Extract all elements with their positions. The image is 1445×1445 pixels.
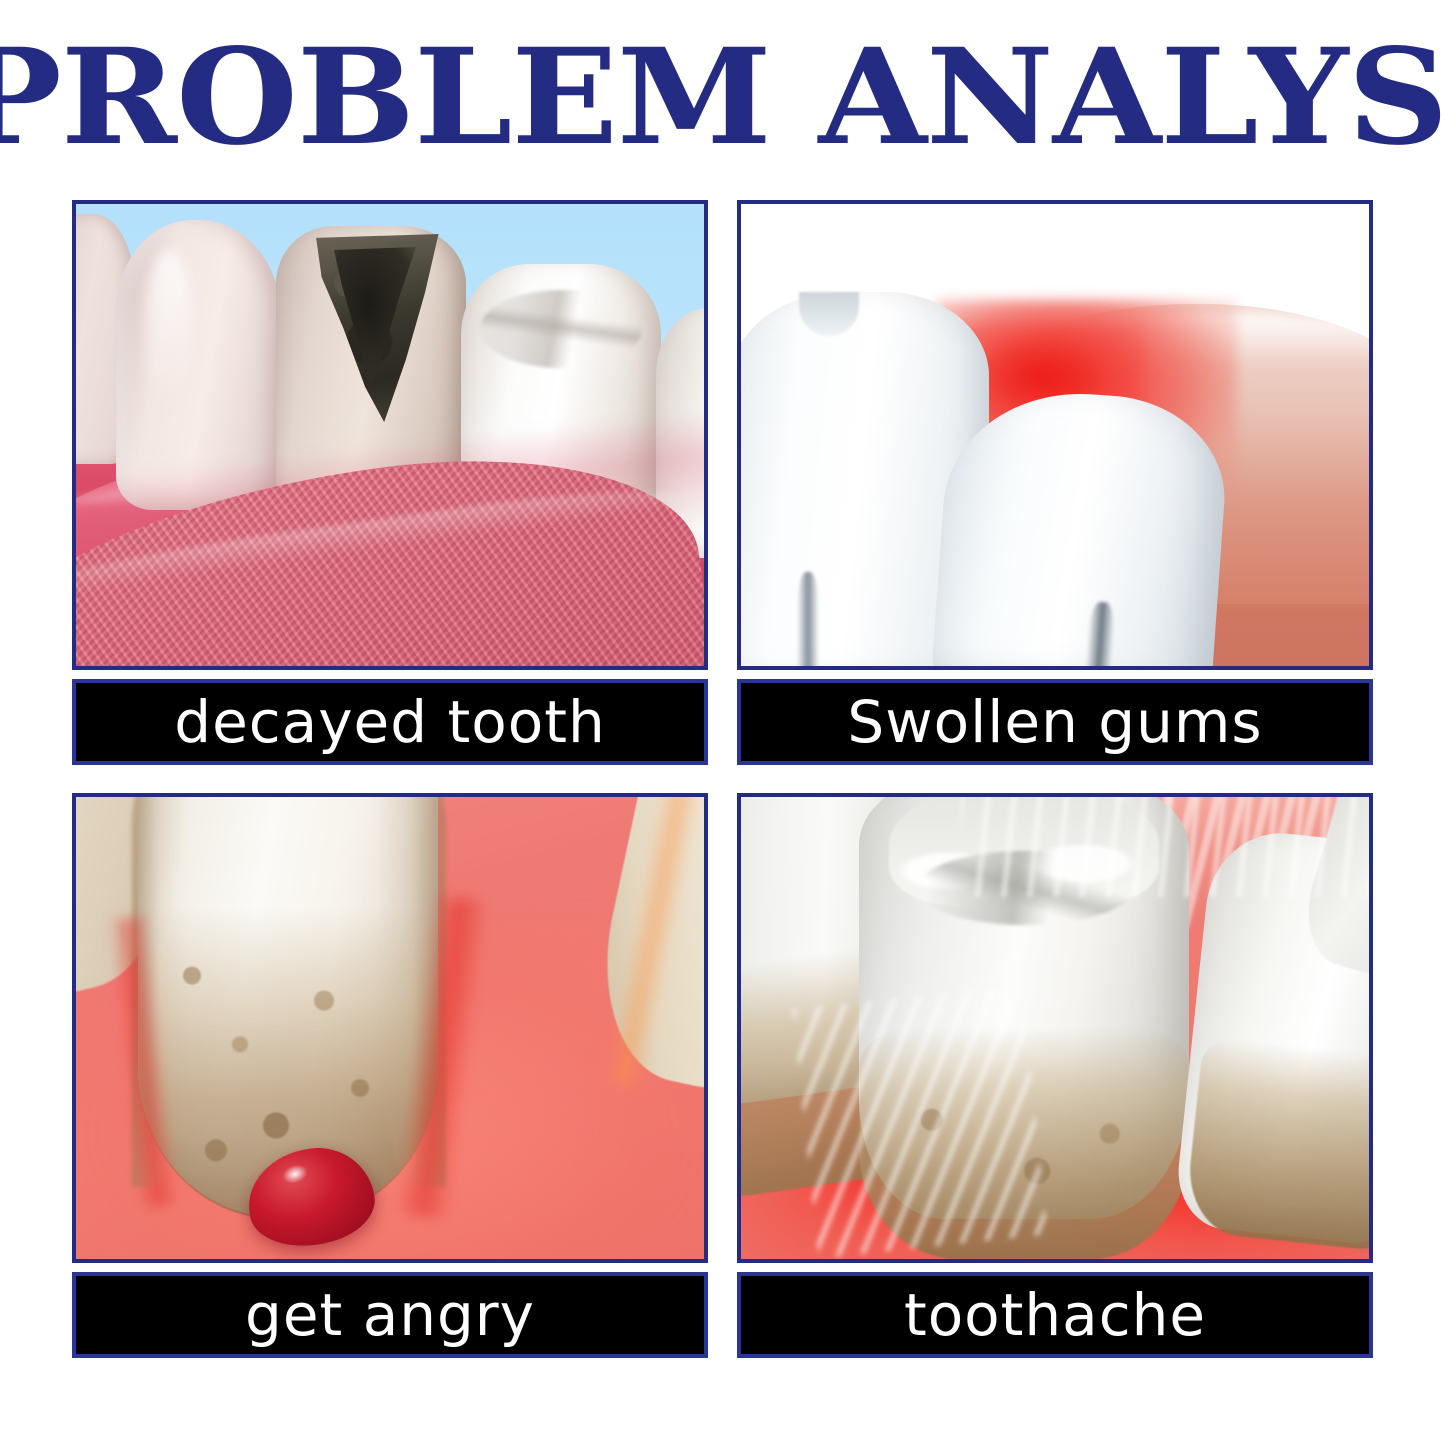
- panel-swollen-gums[interactable]: Swollen gums: [737, 200, 1373, 765]
- panel-toothache[interactable]: toothache: [737, 793, 1373, 1358]
- caption-label: toothache: [904, 1284, 1206, 1346]
- caption-label: Swollen gums: [847, 691, 1262, 753]
- caption-bar-decayed-tooth: decayed tooth: [72, 679, 708, 765]
- molar-grooves: [480, 290, 642, 368]
- toothache-illustration: [737, 793, 1373, 1263]
- decayed-tooth-illustration: [72, 200, 708, 670]
- pain-shockwave-icon: [793, 986, 1048, 1259]
- caption-bar-toothache: toothache: [737, 1272, 1373, 1358]
- tartar-right: [1183, 1036, 1373, 1255]
- panel-decayed-tooth[interactable]: decayed tooth: [72, 200, 708, 765]
- caption-bar-swollen-gums: Swollen gums: [737, 679, 1373, 765]
- tooth-root-left: [797, 572, 819, 670]
- swollen-gums-illustration: [737, 200, 1373, 670]
- caption-bar-get-angry: get angry: [72, 1272, 708, 1358]
- panel-get-angry[interactable]: get angry: [72, 793, 708, 1358]
- tooth-healthy-left: [116, 220, 281, 510]
- page-title: PROBLEM ANALYSIS: [0, 34, 1445, 162]
- tooth-highlight: [146, 250, 192, 400]
- caption-label: get angry: [245, 1284, 535, 1346]
- caption-label: decayed tooth: [174, 691, 605, 753]
- problem-panel-grid: decayed tooth Swollen gums: [72, 200, 1375, 1368]
- get-angry-illustration: [72, 793, 708, 1263]
- pain-shockwave-upper-icon: [961, 793, 1373, 897]
